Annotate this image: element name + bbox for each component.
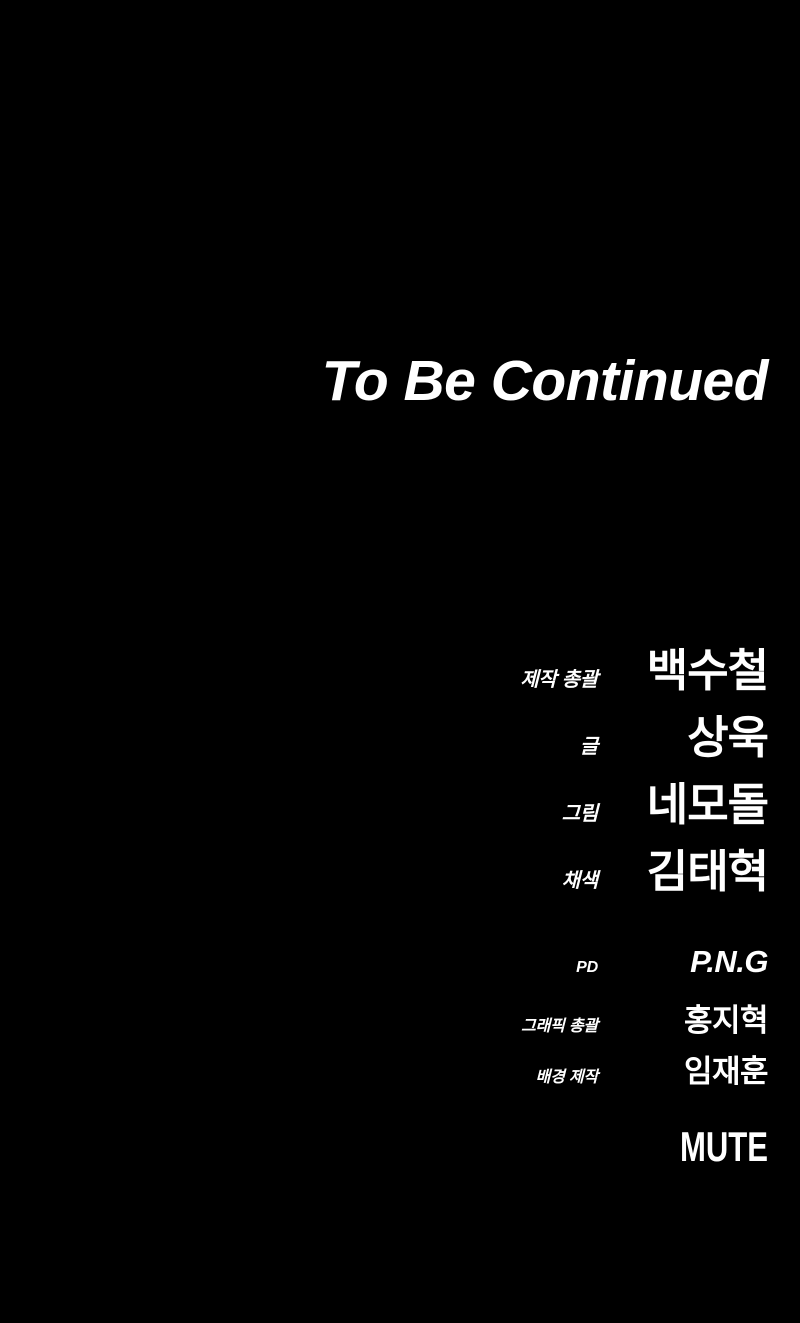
title-block: To Be Continued — [0, 352, 768, 412]
credit-person-name: 상욱 — [598, 701, 768, 766]
credit-person-name: 홍지혁 — [598, 995, 768, 1040]
credit-person-name: P.N.G — [598, 944, 768, 980]
credit-role-label: 채색 — [0, 864, 598, 893]
credit-row: 채색 김태혁 — [0, 835, 768, 902]
credit-role-label: 글 — [0, 730, 598, 759]
credit-person-name: 백수철 — [598, 634, 768, 699]
credit-person-name: 네모돌 — [598, 768, 768, 833]
credit-row: 그림 네모돌 — [0, 768, 768, 835]
credits-secondary-list: PD P.N.G 그래픽 총괄 홍지혁 배경 제작 임재훈 — [0, 944, 768, 1097]
credit-row: 글 상욱 — [0, 701, 768, 768]
page-title: To Be Continued — [322, 352, 768, 412]
credit-role-label: 그림 — [0, 797, 598, 826]
credit-row: 그래픽 총괄 홍지혁 — [0, 995, 768, 1046]
credit-row: 제작 총괄 백수철 — [0, 634, 768, 701]
credit-person-name: 김태혁 — [598, 835, 768, 900]
credit-role-label: 배경 제작 — [0, 1063, 598, 1087]
studio-logo-block: MUTE — [0, 1126, 768, 1168]
mute-logo: MUTE — [680, 1126, 768, 1168]
credits-primary-list: 제작 총괄 백수철 글 상욱 그림 네모돌 채색 김태혁 — [0, 634, 768, 902]
credit-role-label: 그래픽 총괄 — [0, 1012, 598, 1036]
credit-role-label: 제작 총괄 — [0, 663, 598, 692]
credit-row: 배경 제작 임재훈 — [0, 1046, 768, 1097]
credit-person-name: 임재훈 — [598, 1046, 768, 1091]
credit-role-label: PD — [0, 959, 598, 977]
credit-row: PD P.N.G — [0, 944, 768, 995]
